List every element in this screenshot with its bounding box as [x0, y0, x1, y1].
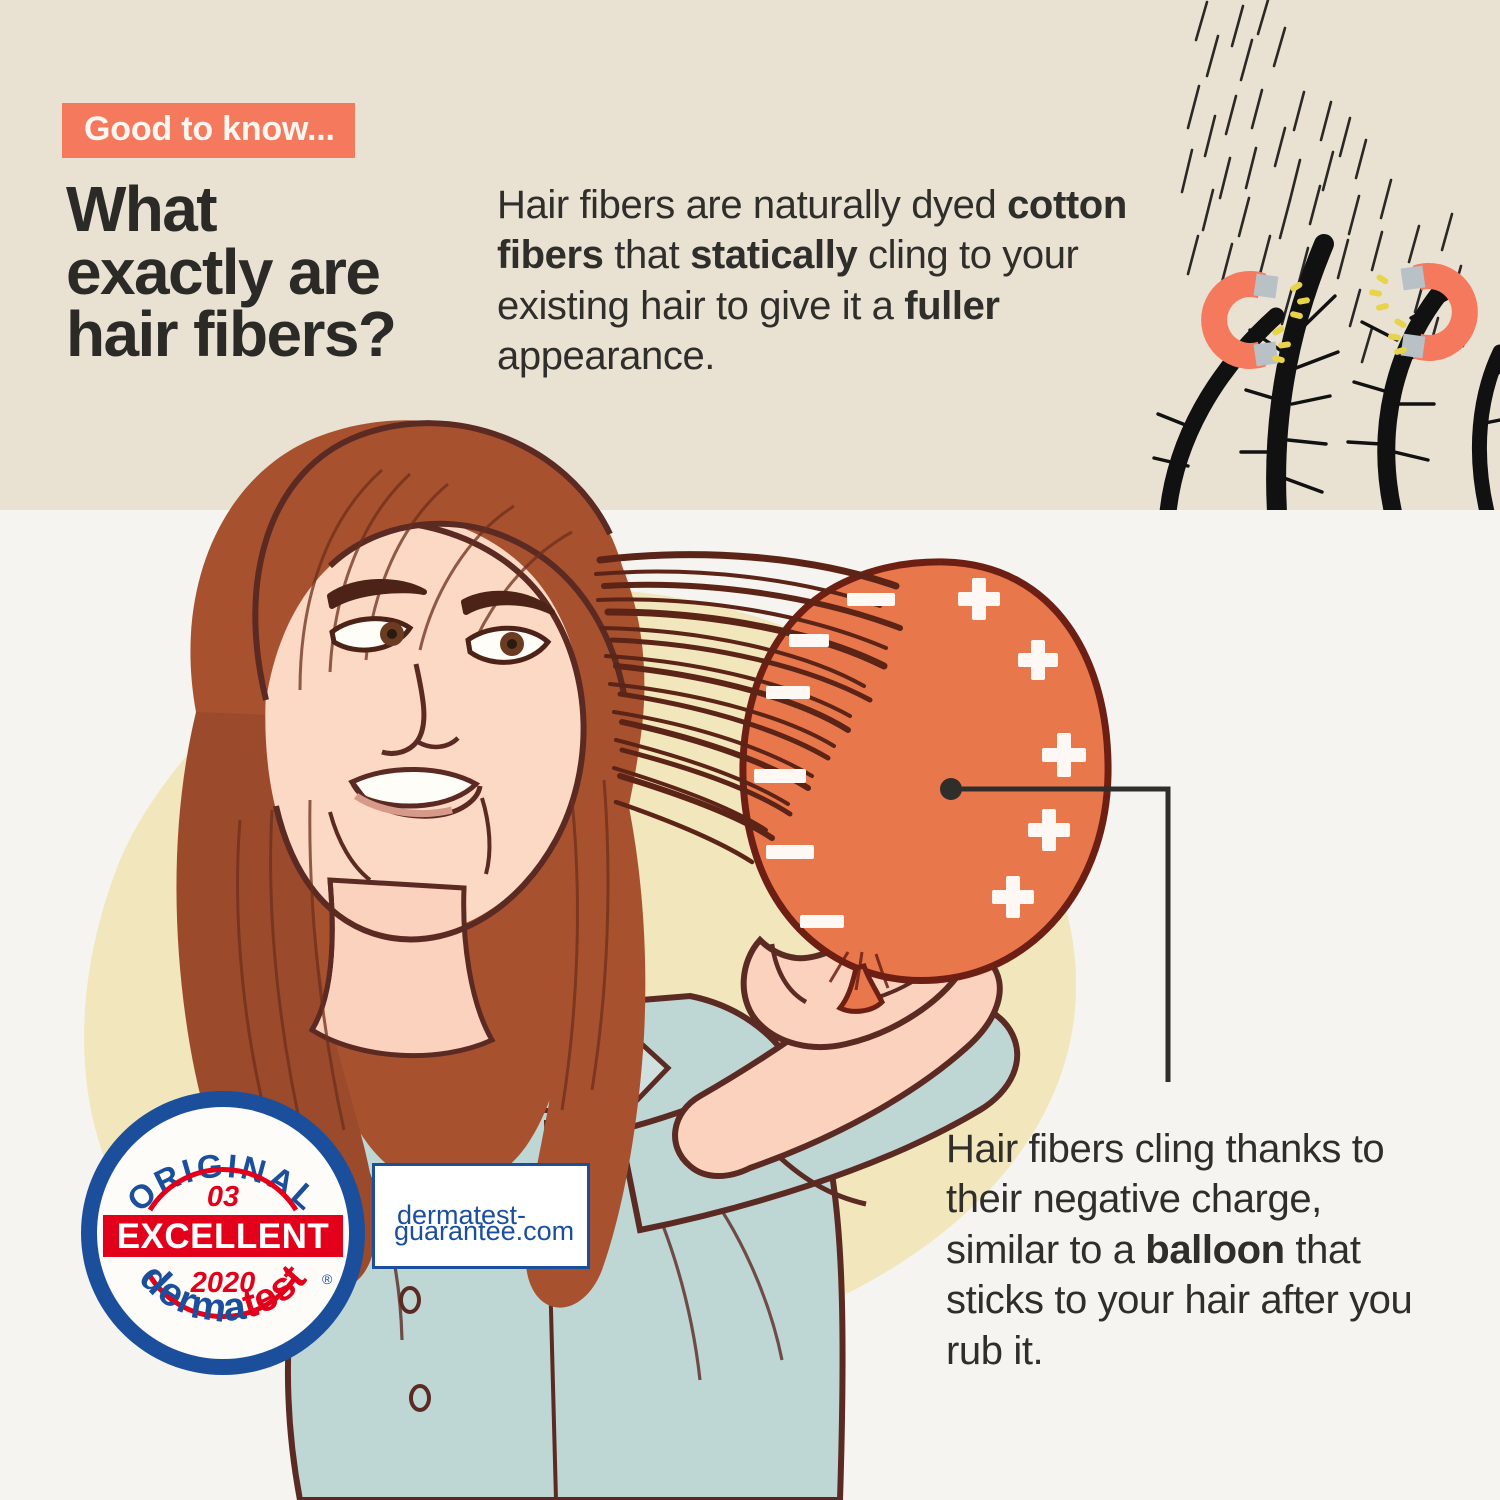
lede-part-4: appearance. [497, 334, 715, 378]
url-line-2: guarantee.com [394, 1216, 574, 1247]
infographic-canvas: Good to know... What exactly are hair fi… [0, 0, 1500, 1500]
callout-paragraph: Hair fibers cling thanks to their negati… [946, 1124, 1416, 1376]
headline-line-1: What [66, 178, 496, 241]
lede-paragraph: Hair fibers are naturally dyed cotton fi… [497, 180, 1157, 382]
quality-seal-icon[interactable]: ORIGINAL 03 EXCELLENT 2020 dermatest ® [78, 1088, 368, 1378]
seal-registered-mark: ® [322, 1271, 333, 1287]
lede-bold-3: fuller [904, 284, 999, 328]
lede-bold-2: statically [690, 233, 857, 277]
lede-part-2: that [604, 233, 691, 277]
lede-part-1: Hair fibers are naturally dyed [497, 183, 1007, 227]
seal-rating: EXCELLENT [117, 1217, 330, 1256]
page-title: What exactly are hair fibers? [66, 178, 496, 366]
kicker-tag: Good to know... [62, 103, 355, 158]
callout-bold-1: balloon [1145, 1228, 1284, 1272]
seal-number: 03 [207, 1181, 239, 1213]
headline-line-3: hair fibers? [66, 303, 496, 366]
headline-line-2: exactly are [66, 241, 496, 304]
